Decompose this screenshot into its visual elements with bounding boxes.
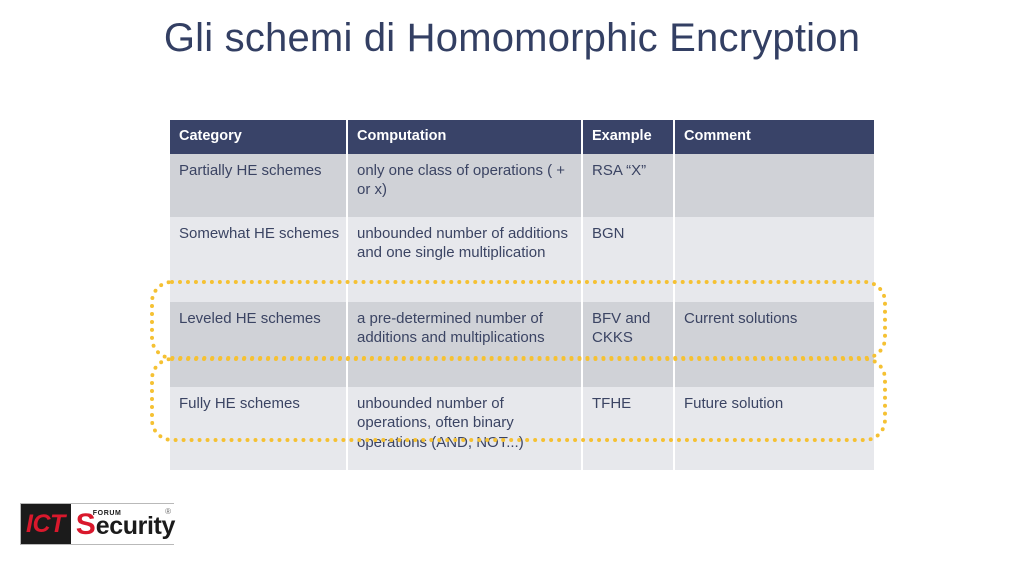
cell-example: BFV and CKKS [582, 302, 674, 387]
cell-computation: unbounded number of additions and one si… [347, 217, 582, 302]
column-header-comment: Comment [674, 120, 874, 154]
table-row: Somewhat HE schemes unbounded number of … [170, 217, 874, 302]
cell-example: RSA “X” [582, 154, 674, 217]
logo-forum-superscript: FORUM [93, 510, 122, 517]
cell-comment: Current solutions [674, 302, 874, 387]
logo-ict-mark: ICT [21, 504, 71, 544]
cell-category: Leveled HE schemes [170, 302, 347, 387]
table-header-row: Category Computation Example Comment [170, 120, 874, 154]
cell-computation: only one class of operations ( + or x) [347, 154, 582, 217]
table-row: Partially HE schemes only one class of o… [170, 154, 874, 217]
logo-security-text: ecurity [96, 514, 175, 539]
column-header-example: Example [582, 120, 674, 154]
table-row: Leveled HE schemes a pre-determined numb… [170, 302, 874, 387]
he-schemes-table: Category Computation Example Comment Par… [170, 120, 874, 470]
cell-comment [674, 217, 874, 302]
cell-category: Somewhat HE schemes [170, 217, 347, 302]
cell-example: BGN [582, 217, 674, 302]
cell-example: TFHE [582, 387, 674, 470]
column-header-computation: Computation [347, 120, 582, 154]
cell-computation: a pre-determined number of additions and… [347, 302, 582, 387]
cell-comment: Future solution [674, 387, 874, 470]
cell-category: Fully HE schemes [170, 387, 347, 470]
cell-category: Partially HE schemes [170, 154, 347, 217]
cell-comment [674, 154, 874, 217]
logo-wordmark: S ecurity FORUM ® [71, 504, 175, 544]
cell-computation: unbounded number of operations, often bi… [347, 387, 582, 470]
registered-trademark-icon: ® [165, 507, 171, 516]
column-header-category: Category [170, 120, 347, 154]
ict-security-forum-logo: ICT S ecurity FORUM ® [20, 503, 174, 545]
table-row: Fully HE schemes unbounded number of ope… [170, 387, 874, 470]
page-title: Gli schemi di Homomorphic Encryption [0, 14, 1024, 62]
